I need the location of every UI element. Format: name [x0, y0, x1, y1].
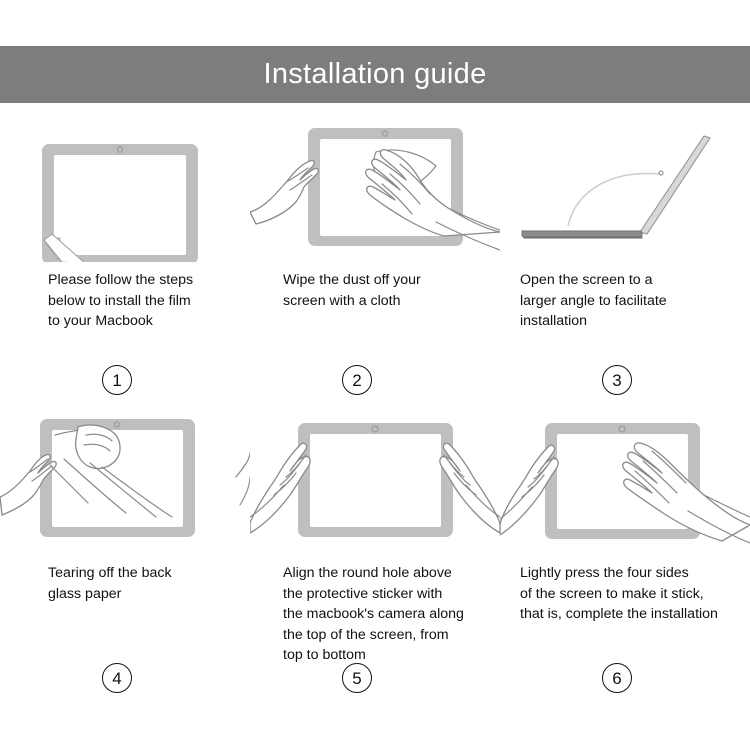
step-6-figure [500, 405, 750, 553]
laptop-open-angle-icon [500, 112, 750, 262]
header-banner: Installation guide [0, 46, 750, 103]
step-panel-4: Tearing off the back glass paper 4 [0, 405, 250, 698]
step-number-3: 3 [612, 372, 621, 389]
installation-guide-page: Installation guide Please follow the ste… [0, 0, 750, 750]
steps-grid: Please follow the steps below to install… [0, 112, 750, 732]
step-number-5: 5 [352, 670, 361, 687]
step-badge-4: 4 [102, 663, 132, 693]
hands-pressing-screen-edges-icon [500, 405, 750, 555]
macbook-screen-peeling-film-icon [0, 112, 250, 262]
step-panel-2: Wipe the dust off your screen with a clo… [250, 112, 500, 405]
hands-wiping-screen-icon [250, 112, 500, 262]
step-number-1: 1 [112, 372, 121, 389]
step-2-caption: Wipe the dust off your screen with a clo… [283, 270, 503, 311]
step-4-caption: Tearing off the back glass paper [48, 563, 248, 604]
step-3-figure [500, 112, 750, 260]
hands-tearing-back-paper-icon [0, 405, 250, 555]
two-hands-aligning-film-icon [250, 405, 500, 555]
step-1-figure [0, 112, 250, 260]
page-title: Installation guide [263, 60, 486, 89]
step-number-6: 6 [612, 670, 621, 687]
step-panel-5: Align the round hole above the protectiv… [250, 405, 500, 698]
step-panel-6: Lightly press the four sides of the scre… [500, 405, 750, 698]
step-number-2: 2 [352, 372, 361, 389]
step-6-caption: Lightly press the four sides of the scre… [520, 563, 750, 625]
step-5-caption: Align the round hole above the protectiv… [283, 563, 503, 666]
step-badge-6: 6 [602, 663, 632, 693]
step-badge-1: 1 [102, 365, 132, 395]
step-panel-3: Open the screen to a larger angle to fac… [500, 112, 750, 405]
step-2-figure [250, 112, 500, 260]
step-number-4: 4 [112, 670, 121, 687]
step-3-caption: Open the screen to a larger angle to fac… [520, 270, 750, 332]
step-panel-1: Please follow the steps below to install… [0, 112, 250, 405]
step-badge-5: 5 [342, 663, 372, 693]
step-badge-3: 3 [602, 365, 632, 395]
step-1-caption: Please follow the steps below to install… [48, 270, 248, 332]
step-4-figure [0, 405, 250, 553]
step-badge-2: 2 [342, 365, 372, 395]
step-5-figure [250, 405, 500, 553]
